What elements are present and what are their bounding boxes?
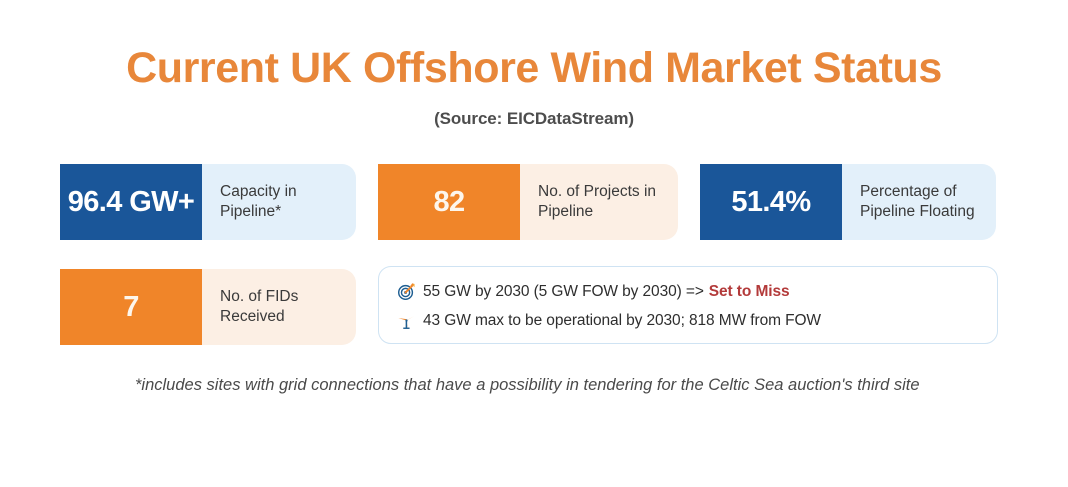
wind-turbine-icon (397, 311, 423, 330)
source-subtitle: (Source: EICDataStream) (0, 91, 1068, 129)
note-text-target: 55 GW by 2030 (5 GW FOW by 2030) => (423, 283, 704, 301)
targets-note-box: 55 GW by 2030 (5 GW FOW by 2030) => Set … (378, 266, 998, 344)
note-line-operational: 43 GW max to be operational by 2030; 818… (397, 306, 979, 335)
stat-card-capacity: 96.4 GW+ Capacity in Pipeline* (60, 164, 356, 240)
stat-value-fids: 7 (60, 269, 202, 345)
stat-value-capacity: 96.4 GW+ (60, 164, 202, 240)
stat-card-row-two: 7 No. of FIDs Received (60, 269, 356, 345)
stat-card-row-one: 96.4 GW+ Capacity in Pipeline* 82 No. of… (60, 164, 996, 240)
page-title: Current UK Offshore Wind Market Status (0, 46, 1068, 91)
stat-value-projects: 82 (378, 164, 520, 240)
stat-label-fids: No. of FIDs Received (202, 269, 356, 345)
stat-card-fids: 7 No. of FIDs Received (60, 269, 356, 345)
stat-card-projects: 82 No. of Projects in Pipeline (378, 164, 678, 240)
stat-card-floating: 51.4% Percentage of Pipeline Floating (700, 164, 996, 240)
status-badge-set-to-miss: Set to Miss (709, 283, 790, 301)
stat-label-floating: Percentage of Pipeline Floating (842, 164, 996, 240)
stat-value-floating: 51.4% (700, 164, 842, 240)
stat-label-projects: No. of Projects in Pipeline (520, 164, 678, 240)
note-line-target: 55 GW by 2030 (5 GW FOW by 2030) => Set … (397, 277, 979, 306)
note-text-operational: 43 GW max to be operational by 2030; 818… (423, 312, 821, 330)
target-dart-icon (397, 282, 423, 301)
header: Current UK Offshore Wind Market Status (… (0, 0, 1068, 129)
footnote: *includes sites with grid connections th… (135, 374, 995, 398)
stat-label-capacity: Capacity in Pipeline* (202, 164, 356, 240)
